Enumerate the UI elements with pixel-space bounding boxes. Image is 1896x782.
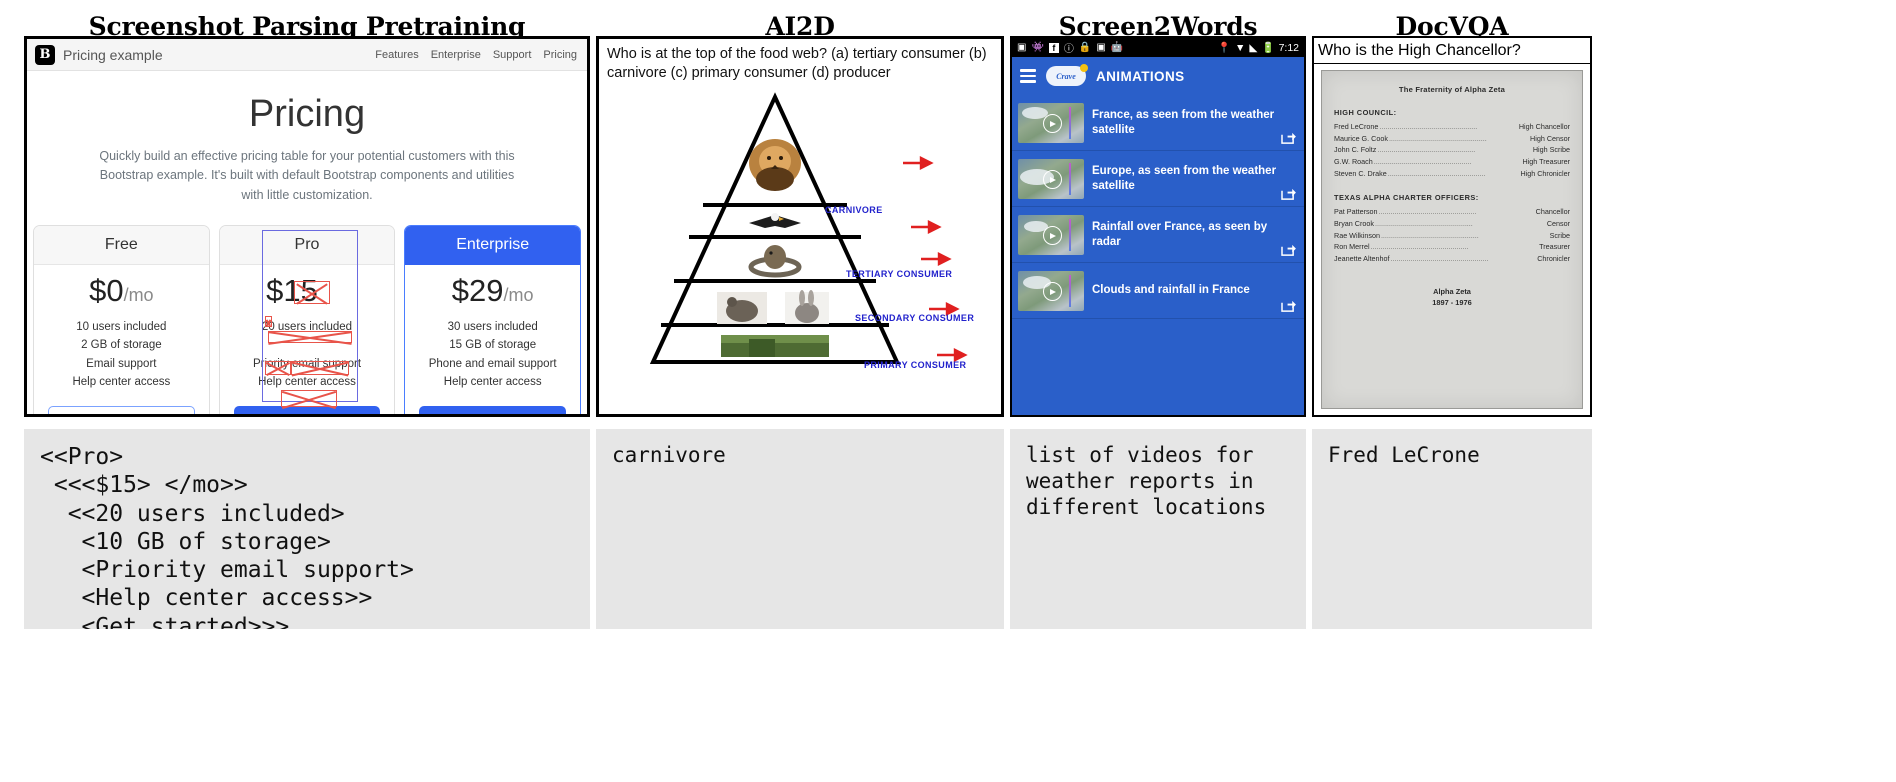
android-status-bar: ▣ 👾 f ⓘ 🔒 ▣ 🤖 📍 ▼ ◣ 🔋 7:12 [1012, 38, 1304, 57]
facebook-icon: f [1049, 43, 1059, 53]
wifi-icon: ▼ [1235, 42, 1245, 54]
ai2d-screenshot-panel: Who is at the top of the food web? (a) t… [596, 36, 1004, 417]
page-title: Pricing [27, 71, 587, 133]
output-parsing: <<Pro> <<<$15> </mo>> <<20 users include… [24, 429, 590, 629]
section-heading-texas-alpha: TEXAS ALPHA CHARTER OFFICERS: [1334, 193, 1570, 202]
mask-box-cta [281, 390, 337, 407]
card-price-enterprise: $29/mo [413, 275, 572, 308]
food-web-pyramid: CARNIVORE TERTIARY CONSUMER SECONDARY CO… [599, 87, 1004, 417]
video-list[interactable]: France, as seen from the weather satelli… [1012, 95, 1304, 415]
feature-item: Help center access [42, 373, 201, 392]
card-features-free: 10 users included 2 GB of storage Email … [42, 318, 201, 393]
section-heading-high-council: HIGH COUNCIL: [1334, 108, 1570, 117]
list-item[interactable]: France, as seen from the weather satelli… [1012, 95, 1304, 151]
document-footer: Alpha Zeta 1897 - 1976 [1334, 286, 1570, 308]
card-features-enterprise: 30 users included 15 GB of storage Phone… [413, 318, 572, 393]
video-title: France, as seen from the weather satelli… [1092, 108, 1298, 138]
plant-image [721, 335, 829, 357]
docvqa-question: Who is the High Chancellor? [1314, 38, 1590, 64]
card-body-enterprise: $29/mo 30 users included 15 GB of storag… [405, 265, 580, 417]
document-title: The Fraternity of Alpha Zeta [1334, 85, 1570, 94]
play-icon [1043, 114, 1062, 133]
pricing-cards: Free $0/mo 10 users included 2 GB of sto… [33, 225, 581, 417]
crave-logo-icon: Crave [1046, 66, 1086, 86]
feature-item: Phone and email support [413, 355, 572, 374]
status-time: 7:12 [1279, 42, 1299, 54]
figure-root: Screenshot Parsing Pretraining AI2D Scre… [0, 0, 1896, 782]
output-docvqa-answer: Fred LeCrone [1312, 429, 1592, 629]
pricing-card-pro: Pro $15/mo 20 users included 10 GB of st… [219, 225, 396, 417]
roster-row: Bryan Crook.............................… [1334, 219, 1570, 229]
bootstrap-logo-icon: B [35, 45, 55, 65]
feature-item: 2 GB of storage [42, 336, 201, 355]
footer-line-2: 1897 - 1976 [1334, 297, 1570, 308]
roster-row: Pat Patterson...........................… [1334, 207, 1570, 217]
video-thumbnail [1018, 215, 1084, 255]
bootstrap-navbar: B Pricing example Features Enterprise Su… [27, 39, 587, 71]
feature-item: Email support [42, 355, 201, 374]
info-icon: ⓘ [1064, 40, 1074, 55]
feature-item: Help center access [413, 373, 572, 392]
signal-icon: ◣ [1249, 42, 1257, 54]
list-item[interactable]: Clouds and rainfall in France [1012, 263, 1304, 319]
share-icon[interactable] [1281, 299, 1296, 312]
ai2d-label-producer: PRODUCER [884, 414, 939, 417]
card-title-free: Free [34, 226, 209, 265]
footer-line-1: Alpha Zeta [1334, 286, 1570, 297]
mask-box-help-b [291, 361, 349, 375]
video-title: Europe, as seen from the weather satelli… [1092, 164, 1298, 194]
navbar-links: Features Enterprise Support Pricing [375, 49, 579, 61]
video-thumbnail [1018, 271, 1084, 311]
video-thumbnail [1018, 103, 1084, 143]
card-body-free: $0/mo 10 users included 2 GB of storage … [34, 265, 209, 417]
ai2d-label-tertiary-consumer: TERTIARY CONSUMER [846, 269, 952, 279]
feature-item: 10 users included [42, 318, 201, 337]
nav-link-support[interactable]: Support [493, 49, 532, 61]
mask-box-users-number [265, 316, 272, 327]
signup-free-button[interactable]: Sign up for free [48, 406, 195, 417]
play-icon [1043, 226, 1062, 245]
contact-us-button[interactable]: Contact us [419, 406, 566, 417]
get-started-button[interactable]: Get started [234, 406, 381, 417]
list-item[interactable]: Europe, as seen from the weather satelli… [1012, 151, 1304, 207]
location-icon: 📍 [1218, 41, 1231, 54]
share-icon[interactable] [1281, 131, 1296, 144]
checkbox-icon: ▣ [1096, 42, 1105, 53]
card-title-enterprise: Enterprise [405, 226, 580, 265]
pricing-screenshot-panel: B Pricing example Features Enterprise Su… [24, 36, 590, 417]
list-item[interactable]: Rainfall over France, as seen by radar [1012, 207, 1304, 263]
mask-box-help-a [265, 361, 291, 375]
pricing-card-enterprise: Enterprise $29/mo 30 users included 15 G… [404, 225, 581, 417]
battery-icon: 🔋 [1261, 41, 1274, 54]
scanned-document: The Fraternity of Alpha Zeta HIGH COUNCI… [1321, 70, 1583, 409]
mouse-image [717, 292, 767, 324]
video-title: Clouds and rainfall in France [1092, 283, 1298, 298]
app-bar-title: ANIMATIONS [1096, 69, 1185, 84]
card-features-pro: 20 users included 10 GB of storage Prior… [228, 318, 387, 393]
app-bar: Crave ANIMATIONS [1012, 57, 1304, 95]
docvqa-screenshot-panel: Who is the High Chancellor? The Fraterni… [1312, 36, 1592, 417]
card-title-pro: Pro [220, 226, 395, 265]
pricing-card-free: Free $0/mo 10 users included 2 GB of sto… [33, 225, 210, 417]
status-right-icons: 📍 ▼ ◣ 🔋 7:12 [1218, 41, 1299, 54]
mask-box-price-period [294, 281, 330, 304]
share-icon[interactable] [1281, 187, 1296, 200]
roster-row: Steven C. Drake.........................… [1334, 169, 1570, 179]
nav-link-pricing[interactable]: Pricing [543, 49, 577, 61]
screen-icon: ▣ [1017, 42, 1026, 53]
video-title: Rainfall over France, as seen by radar [1092, 220, 1298, 250]
roster-row: Maurice G. Cook.........................… [1334, 134, 1570, 144]
card-price-free: $0/mo [42, 275, 201, 308]
roster-row: Jeanette Altenhof.......................… [1334, 254, 1570, 264]
label-arrows [903, 158, 965, 360]
navbar-brand[interactable]: Pricing example [63, 47, 375, 63]
rabbit-image [785, 290, 829, 324]
roster-row: G.W. Roach..............................… [1334, 157, 1570, 167]
video-thumbnail [1018, 159, 1084, 199]
ai2d-label-carnivore: CARNIVORE [825, 205, 883, 215]
mask-box-storage [268, 331, 352, 343]
feature-item: 30 users included [413, 318, 572, 337]
roster-row: John C. Foltz...........................… [1334, 145, 1570, 155]
ai2d-label-primary-consumer: PRIMARY CONSUMER [864, 360, 966, 370]
game-icon: 👾 [1031, 42, 1043, 53]
screen2words-screenshot-panel: ▣ 👾 f ⓘ 🔒 ▣ 🤖 📍 ▼ ◣ 🔋 7:12 Crave ANIMATI… [1010, 36, 1306, 417]
lock-icon: 🔒 [1079, 42, 1091, 53]
nav-link-features[interactable]: Features [375, 49, 418, 61]
ai2d-label-secondary-consumer: SECONDARY CONSUMER [855, 313, 974, 323]
hamburger-icon[interactable] [1020, 69, 1036, 83]
pricing-hero: Pricing Quickly build an effective prici… [27, 71, 587, 221]
android-icon: 🤖 [1111, 42, 1123, 53]
roster-row: Ron Merrel..............................… [1334, 242, 1570, 252]
share-icon[interactable] [1281, 243, 1296, 256]
play-icon [1043, 282, 1062, 301]
output-screen2words-answer: list of videos for weather reports in di… [1010, 429, 1306, 629]
roster-row: Rae Wilkinson...........................… [1334, 231, 1570, 241]
play-icon [1043, 170, 1062, 189]
output-ai2d-answer: carnivore [596, 429, 1004, 629]
roster-row: Fred LeCrone............................… [1334, 122, 1570, 132]
nav-link-enterprise[interactable]: Enterprise [431, 49, 481, 61]
feature-item: 15 GB of storage [413, 336, 572, 355]
page-subtitle: Quickly build an effective pricing table… [97, 147, 517, 205]
ai2d-question: Who is at the top of the food web? (a) t… [607, 45, 993, 84]
